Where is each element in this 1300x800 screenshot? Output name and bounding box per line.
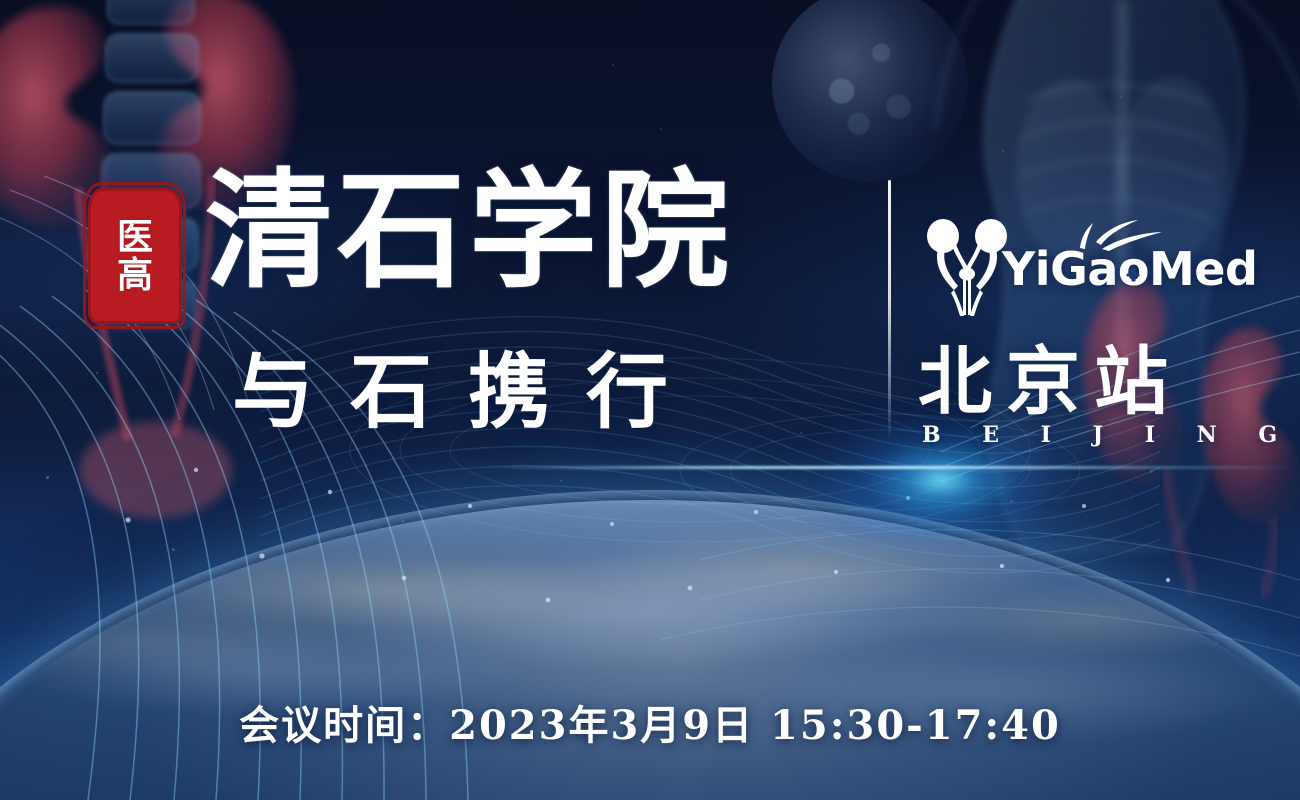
swoosh-accent-icon	[1072, 218, 1168, 252]
page-title: 清石学院	[205, 168, 733, 296]
city-name-zh: 北京站	[918, 345, 1182, 419]
page-subtitle: 与石携行	[232, 352, 704, 434]
seal-stamp: 医 高	[88, 188, 182, 324]
brand-logo: YiGaoMed	[924, 214, 1214, 324]
seal-char-1: 医	[117, 219, 153, 255]
seal-stamp-text: 医 高	[88, 188, 182, 324]
kidney-ureter-icon	[924, 216, 1010, 316]
seal-char-2: 高	[117, 257, 153, 293]
medical-cross-icon	[1126, 268, 1141, 283]
city-name-en: B E I J I N G	[922, 424, 1294, 446]
schedule-text: 会议时间：2023年3月9日 15:30-17:40	[0, 706, 1300, 746]
vertical-divider	[888, 180, 891, 440]
event-poster: 医 高 清石学院 与石携行	[0, 0, 1300, 800]
poster-content: 医 高 清石学院 与石携行	[0, 0, 1300, 800]
